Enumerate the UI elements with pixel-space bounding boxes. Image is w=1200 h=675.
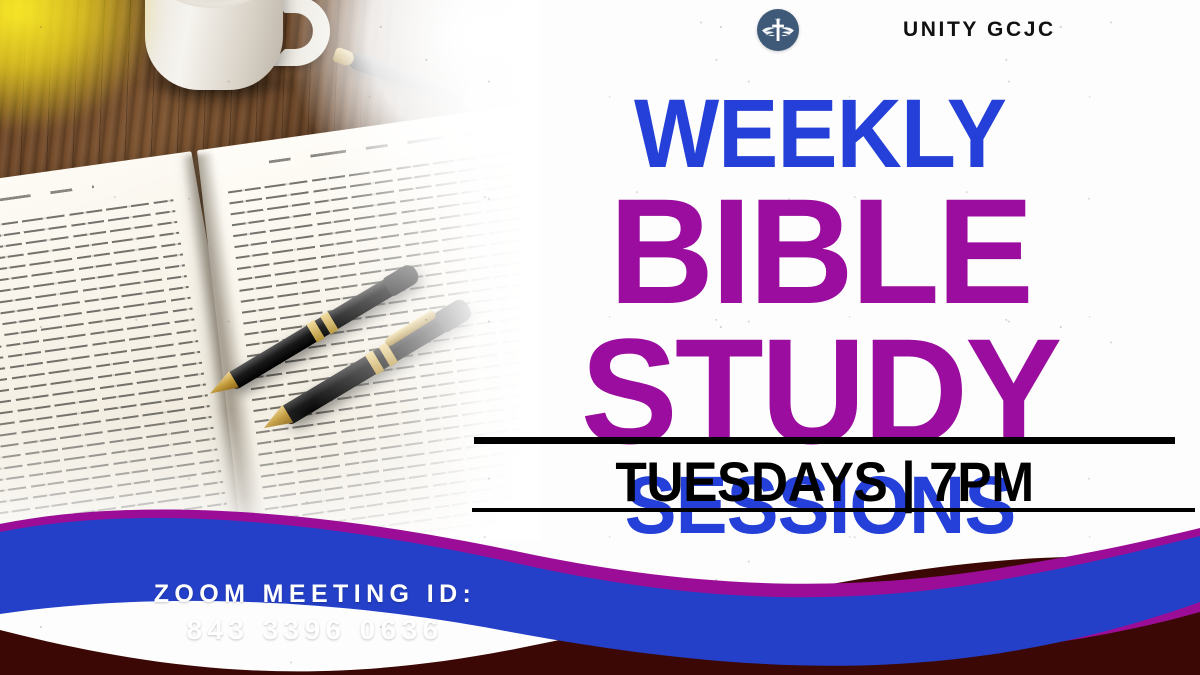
winged-cross-logo-icon: UG <box>757 9 799 51</box>
brand-header: UG UNITY GCJC <box>757 9 1056 51</box>
svg-text:UG: UG <box>775 18 780 22</box>
zoom-info-block: ZOOM MEETING ID: 843 3396 0636 <box>66 580 564 646</box>
zoom-meeting-id-value: 843 3396 0636 <box>66 614 564 646</box>
divider-rule-bottom <box>472 508 1195 512</box>
headline-line-bible-study: BIBLE STUDY <box>451 182 1188 461</box>
brand-name: UNITY GCJC <box>903 18 1056 42</box>
zoom-meeting-id-label: ZOOM MEETING ID: <box>66 580 564 609</box>
divider-rule-top <box>474 437 1175 444</box>
flyer-canvas: UG UNITY GCJC WEEKLY BIBLE STUDY SESSION… <box>0 0 1200 675</box>
schedule-text: TUESDAYS | 7PM <box>502 449 1147 514</box>
